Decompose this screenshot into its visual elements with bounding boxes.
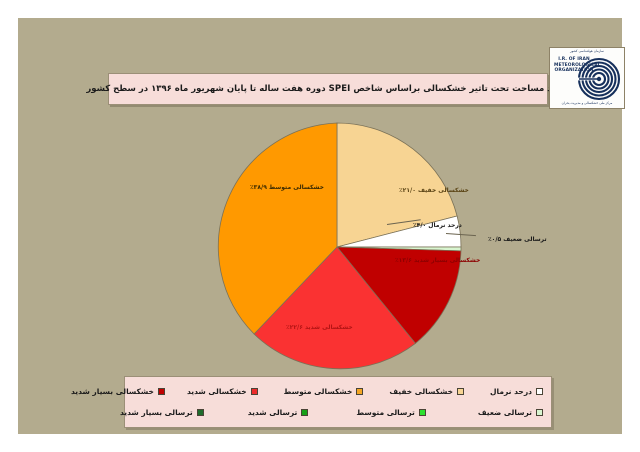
pie-chart-svg <box>211 121 463 373</box>
slice-label-extreme-drought: خشکسالی بسیار شدید ۱۳/۶٪ <box>395 258 480 264</box>
legend-label-mild-drought: خشکسالی خفیف <box>389 388 453 396</box>
legend-item-extreme-wet[interactable]: ترسالی بسیار شدید <box>120 409 204 417</box>
legend-row-drought: درحد نرمال خشکسالی خفیف خشکسالی متوسط خش… <box>133 381 543 402</box>
legend-item-weak-wet[interactable]: ترسالی ضعیف <box>478 409 543 417</box>
legend-swatch-severe-wet <box>301 409 308 416</box>
legend-label-severe-wet: ترسالی شدید <box>248 409 298 417</box>
chart-legend: درحد نرمال خشکسالی خفیف خشکسالی متوسط خش… <box>124 376 552 428</box>
legend-row-wet: ترسالی ضعیف ترسالی متوسط ترسالی شدید ترس… <box>133 402 543 423</box>
pie-chart <box>211 121 463 373</box>
legend-item-severe-drought[interactable]: خشکسالی شدید <box>187 388 258 396</box>
slide-canvas: درصد مساحت تحت تاثیر خشکسالی براساس شاخص… <box>18 18 622 434</box>
legend-item-severe-wet[interactable]: ترسالی شدید <box>248 409 309 417</box>
legend-item-moderate-drought[interactable]: خشکسالی متوسط <box>284 388 364 396</box>
legend-swatch-moderate-drought <box>356 388 363 395</box>
logo-bottom-text: مرکز ملی خشکسالی و مدیریت بحران <box>550 102 624 106</box>
organization-logo: سازمان هواشناسی کشور I.R. OF IRAN METEOR… <box>549 47 625 109</box>
legend-swatch-extreme-wet <box>197 409 204 416</box>
legend-swatch-moderate-wet <box>419 409 426 416</box>
legend-item-extreme-drought[interactable]: خشکسالی بسیار شدید <box>71 388 165 396</box>
legend-item-normal[interactable]: درحد نرمال <box>490 388 543 396</box>
legend-swatch-weak-wet <box>536 409 543 416</box>
page-title: درصد مساحت تحت تاثیر خشکسالی براساس شاخص… <box>86 84 569 94</box>
legend-swatch-normal <box>536 388 543 395</box>
screenshot-page: درصد مساحت تحت تاثیر خشکسالی براساس شاخص… <box>0 0 640 452</box>
logo-top-text: سازمان هواشناسی کشور <box>550 50 624 54</box>
slice-label-mild-drought: خشکسالی خفیف ۲۱/۰٪ <box>399 188 469 194</box>
legend-label-moderate-drought: خشکسالی متوسط <box>284 388 353 396</box>
slice-label-normal: درحد نرمال ۴/۰٪ <box>413 223 462 229</box>
legend-label-weak-wet: ترسالی ضعیف <box>478 409 532 417</box>
legend-item-moderate-wet[interactable]: ترسالی متوسط <box>356 409 426 417</box>
legend-label-severe-drought: خشکسالی شدید <box>187 388 247 396</box>
slice-label-weak-wet: ترسالی ضعیف ۰/۵٪ <box>488 237 547 243</box>
legend-swatch-extreme-drought <box>158 388 165 395</box>
chart-title-box: درصد مساحت تحت تاثیر خشکسالی براساس شاخص… <box>108 73 548 105</box>
legend-label-normal: درحد نرمال <box>490 388 532 396</box>
legend-swatch-mild-drought <box>457 388 464 395</box>
spiral-icon <box>577 57 621 101</box>
slice-label-moderate-drought: خشکسالی متوسط ۳۸/۹٪ <box>250 185 324 191</box>
legend-swatch-severe-drought <box>251 388 258 395</box>
legend-label-extreme-drought: خشکسالی بسیار شدید <box>71 388 154 396</box>
slice-label-severe-drought: خشکسالی شدید ۲۲/۶٪ <box>286 325 353 331</box>
legend-label-moderate-wet: ترسالی متوسط <box>356 409 415 417</box>
legend-label-extreme-wet: ترسالی بسیار شدید <box>120 409 193 417</box>
legend-item-mild-drought[interactable]: خشکسالی خفیف <box>389 388 464 396</box>
